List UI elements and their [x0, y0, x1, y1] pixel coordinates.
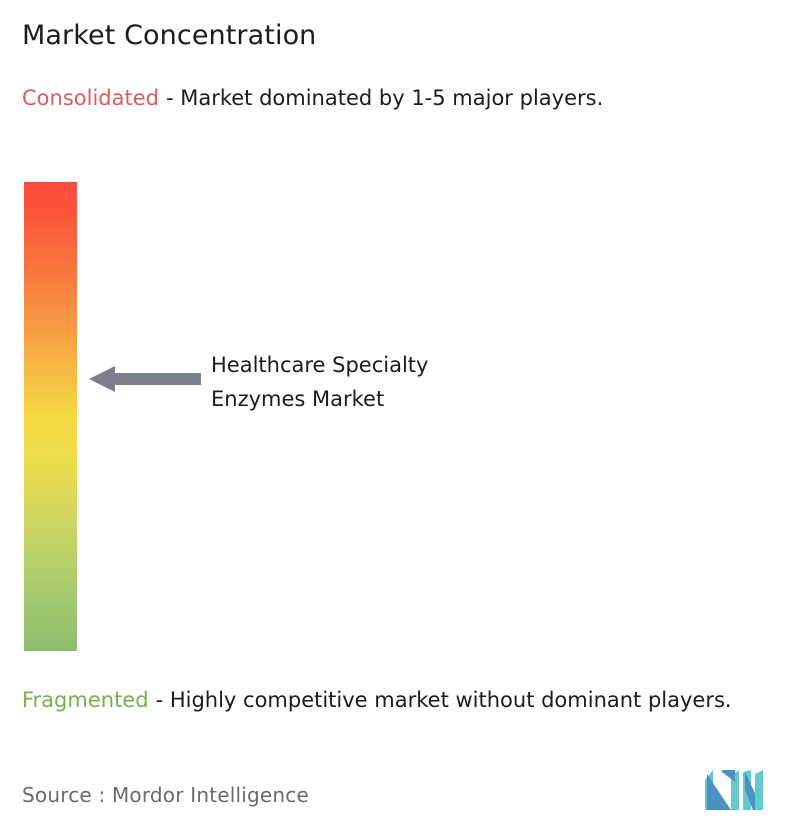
market-annotation-label: Healthcare Specialty Enzymes Market [211, 348, 428, 416]
fragmented-description: - Highly competitive market without domi… [156, 688, 732, 712]
fragmented-caption: Fragmented- Highly competitive market wi… [22, 686, 790, 716]
brand-mark-icon [705, 770, 763, 810]
mordor-intelligence-logo [705, 770, 763, 810]
source-attribution: Source : Mordor Intelligence [22, 783, 309, 807]
page-title: Market Concentration [22, 20, 316, 52]
left-arrow-icon [89, 364, 201, 394]
consolidated-description: - Market dominated by 1-5 major players. [166, 86, 603, 110]
fragmented-keyword: Fragmented [22, 688, 149, 712]
market-position-arrow [89, 364, 201, 394]
concentration-gradient-bar [24, 182, 77, 651]
consolidated-caption: Consolidated- Market dominated by 1-5 ma… [22, 84, 774, 114]
consolidated-keyword: Consolidated [22, 86, 159, 110]
